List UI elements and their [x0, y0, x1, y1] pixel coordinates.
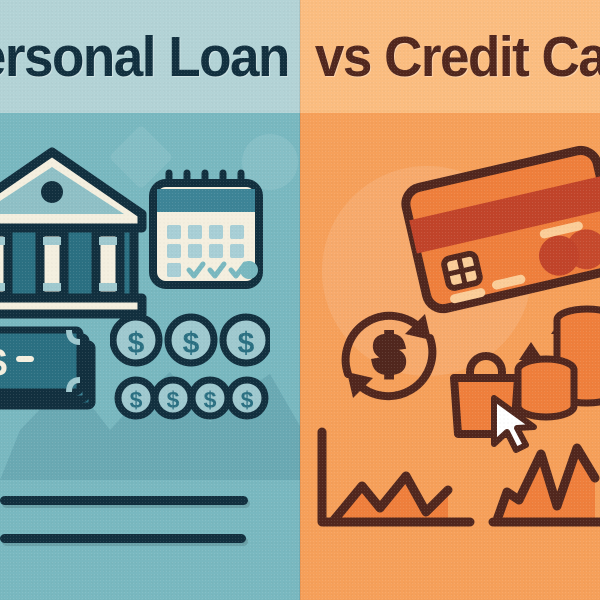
coins-icon: $$ $ $$ $$: [110, 310, 270, 425]
left-header-band: [0, 0, 300, 113]
panel-divider: [299, 0, 301, 600]
svg-text:$: $: [128, 327, 145, 360]
cursor-icon: [486, 394, 540, 456]
svg-text:$: $: [375, 326, 404, 384]
bank-building-icon: [0, 140, 150, 320]
recurring-payment-icon: $: [328, 292, 450, 420]
svg-text:$: $: [183, 327, 200, 360]
svg-text:$: $: [0, 341, 7, 385]
svg-text:$: $: [241, 387, 254, 413]
svg-text:$: $: [238, 327, 255, 360]
text-rule-line-2: [0, 534, 246, 543]
infographic-canvas: $ $$ $ $$ $$: [0, 0, 600, 600]
right-header-band: [300, 0, 600, 113]
banknotes-icon: $: [0, 320, 106, 420]
right-panel-credit-card: $: [300, 0, 600, 600]
svg-text:$: $: [130, 387, 143, 413]
calendar-icon: [145, 167, 267, 293]
svg-text:$: $: [204, 387, 217, 413]
line-chart-icon: [308, 420, 488, 550]
left-panel-personal-loan: $ $$ $ $$ $$: [0, 0, 300, 600]
text-rule-line-1: [0, 496, 248, 505]
svg-text:$: $: [167, 387, 180, 413]
